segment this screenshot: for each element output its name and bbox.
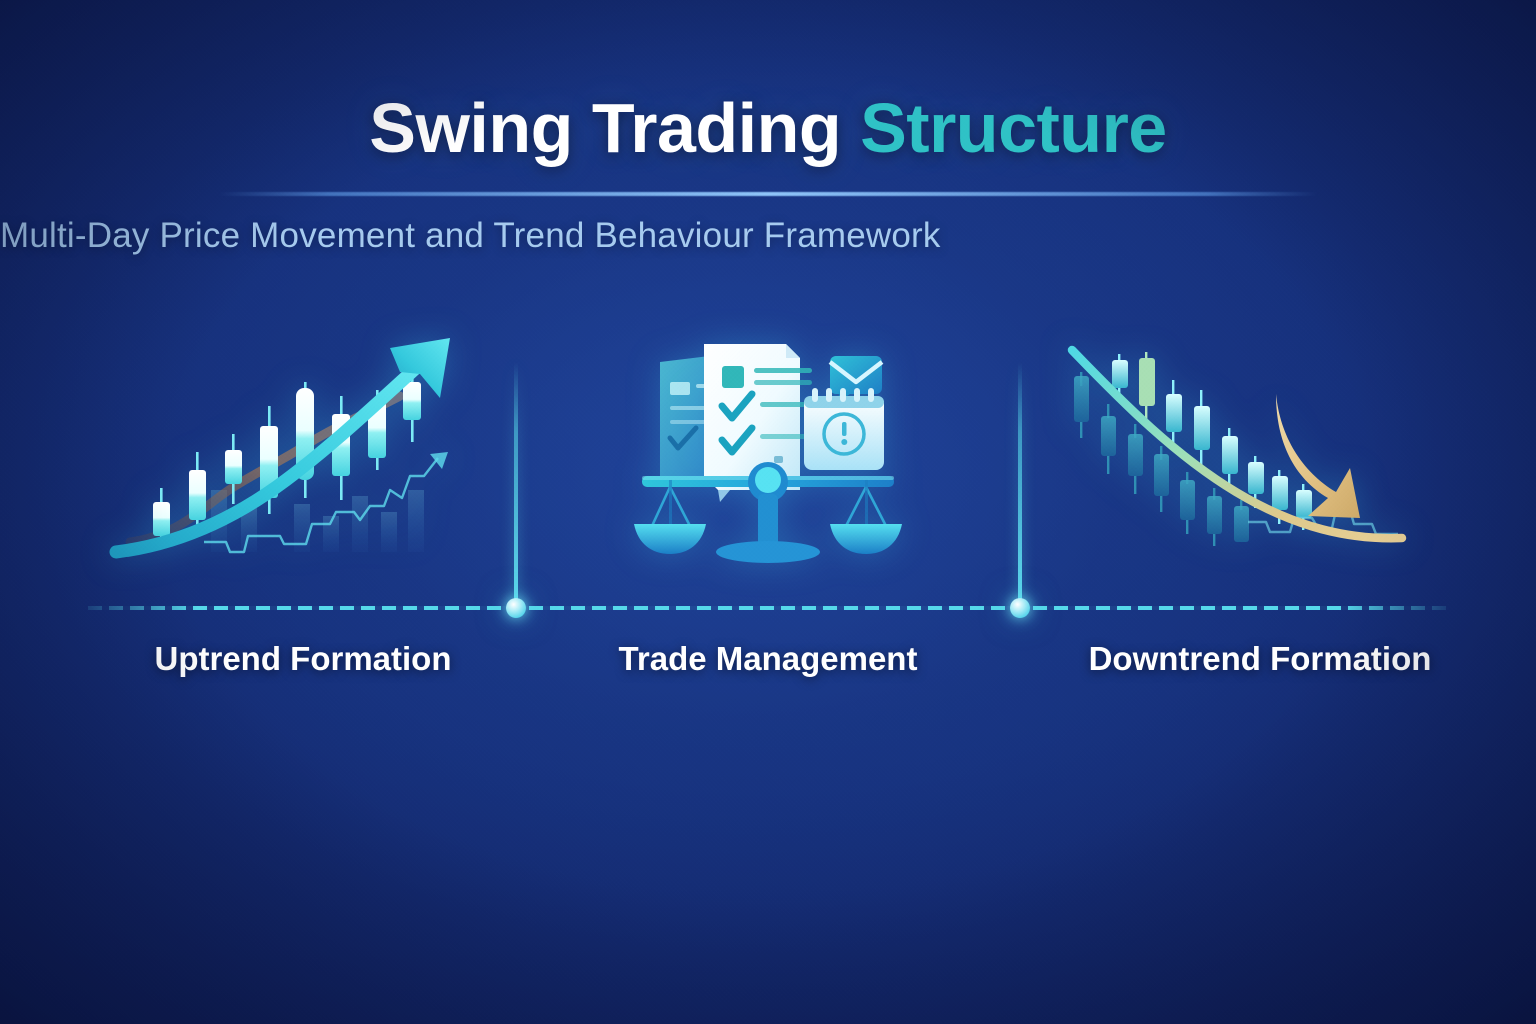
balance-scale-checklist-icon: [608, 330, 928, 580]
timeline-axis: [88, 606, 1450, 610]
downtrend-candlestick-chart-icon: [1050, 332, 1430, 582]
title-main-text: Swing Trading: [369, 89, 860, 167]
header-divider: [218, 192, 1318, 196]
uptrend-candlestick-chart-icon: [108, 330, 488, 580]
timeline-node-1[interactable]: [506, 598, 526, 618]
arrow-down-right-icon: [1276, 394, 1360, 518]
stage-label-downtrend: Downtrend Formation: [1055, 640, 1465, 678]
page-title: Swing Trading Structure: [0, 93, 1536, 163]
timeline-stem-right: [1018, 362, 1022, 610]
header: Swing Trading Structure: [0, 0, 1536, 163]
calendar-clock-icon: [804, 388, 884, 470]
balance-scale-icon: [634, 462, 902, 563]
title-accent-text: Structure: [860, 89, 1167, 167]
timeline-stem-left: [514, 362, 518, 610]
stage-label-trade-management: Trade Management: [563, 640, 973, 678]
infographic-canvas: Swing Trading Structure Multi-Day Price …: [0, 0, 1536, 1024]
background-volume-bars: [211, 490, 424, 552]
page-subtitle: Multi-Day Price Movement and Trend Behav…: [0, 216, 1536, 256]
timeline-node-2[interactable]: [1010, 598, 1030, 618]
stage-label-uptrend: Uptrend Formation: [98, 640, 508, 678]
